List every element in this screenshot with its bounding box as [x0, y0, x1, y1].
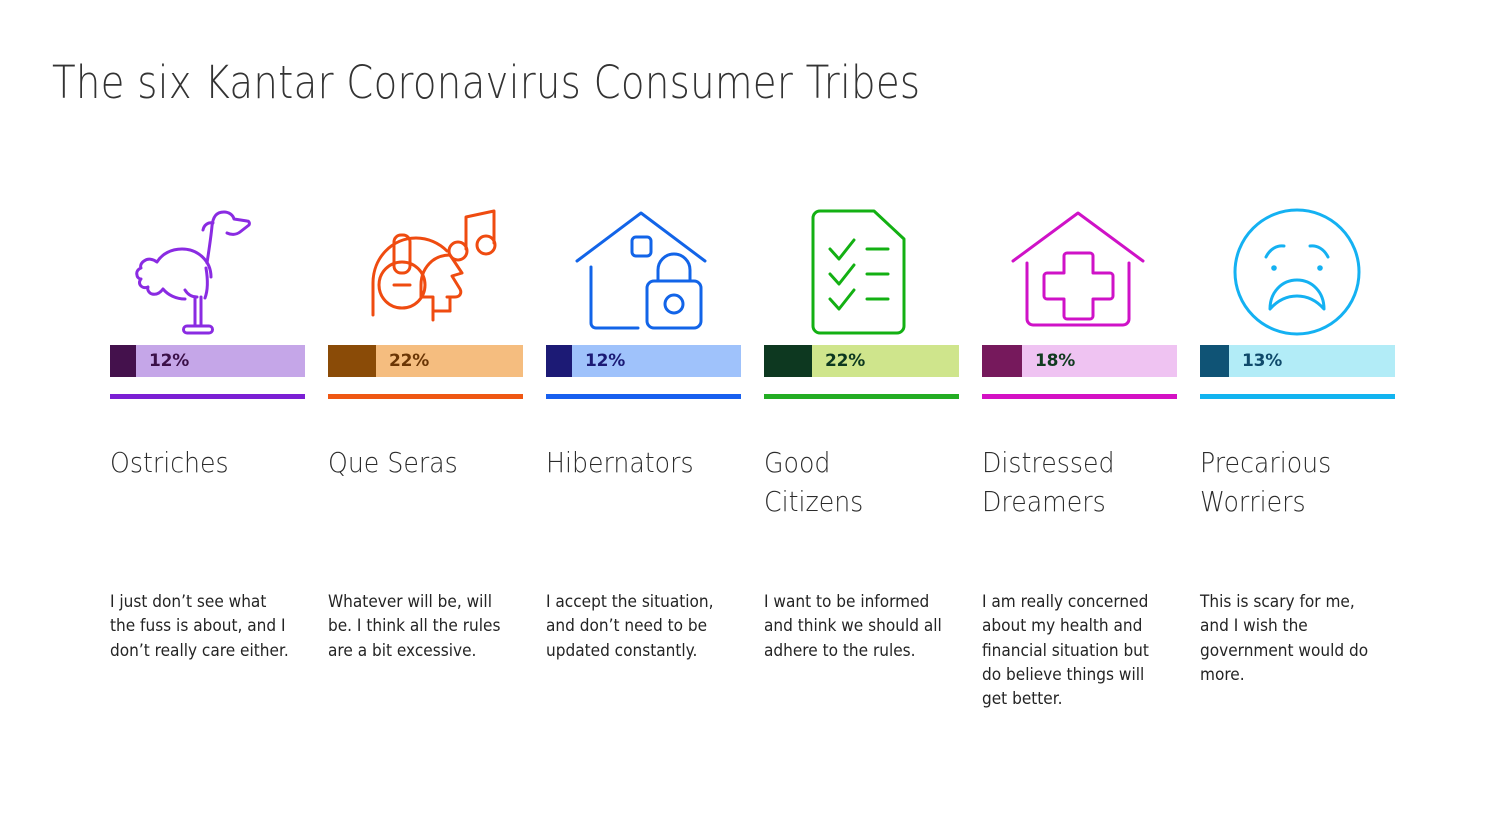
tribe-description: I accept the situation, and don’t need t… — [546, 590, 732, 663]
tribe-percent-label: 12% — [136, 351, 189, 371]
bar-body: 12% — [136, 345, 305, 377]
bar-body: 12% — [572, 345, 741, 377]
bar-body: 13% — [1229, 345, 1395, 377]
bar-body: 18% — [1022, 345, 1177, 377]
tribe-name: Distressed Dreamers — [982, 444, 1158, 521]
tribe-column: 22%Good CitizensI want to be informed an… — [764, 200, 959, 521]
tribe-percent-label: 22% — [376, 351, 429, 371]
bar-body: 22% — [376, 345, 523, 377]
bar-cap — [546, 345, 572, 377]
tribe-description: This is scary for me, and I wish the gov… — [1200, 590, 1386, 687]
tribe-accent-underline — [110, 394, 305, 399]
tribe-share-bar: 13% — [1200, 345, 1395, 377]
tribe-accent-underline — [546, 394, 741, 399]
tribe-accent-underline — [982, 394, 1177, 399]
tribe-name: Hibernators — [546, 444, 722, 483]
tribe-description: Whatever will be, will be. I think all t… — [328, 590, 514, 663]
tribe-share-bar: 18% — [982, 345, 1177, 377]
headphones-head-music-icon — [328, 200, 523, 345]
tribes-row: 12%OstrichesI just don’t see what the fu… — [110, 200, 1410, 521]
bar-cap — [764, 345, 812, 377]
tribe-percent-label: 18% — [1022, 351, 1075, 371]
tribe-accent-underline — [764, 394, 959, 399]
tribe-share-bar: 12% — [546, 345, 741, 377]
house-lock-icon — [546, 200, 741, 345]
tribe-name: Precarious Worriers — [1200, 444, 1376, 521]
tribe-percent-label: 12% — [572, 351, 625, 371]
tribe-column: 13%Precarious WorriersThis is scary for … — [1200, 200, 1395, 521]
bar-cap — [982, 345, 1022, 377]
tribe-description: I want to be informed and think we shoul… — [764, 590, 950, 663]
tribe-column: 18%Distressed DreamersI am really concer… — [982, 200, 1177, 521]
ostrich-icon — [110, 200, 305, 345]
tribe-column: 12%OstrichesI just don’t see what the fu… — [110, 200, 305, 521]
page-title: The six Kantar Coronavirus Consumer Trib… — [52, 56, 920, 109]
tribe-name: Ostriches — [110, 444, 286, 483]
bar-cap — [110, 345, 136, 377]
tribe-name: Que Seras — [328, 444, 504, 483]
tribe-column: 22%Que SerasWhatever will be, will be. I… — [328, 200, 523, 521]
tribe-column: 12%HibernatorsI accept the situation, an… — [546, 200, 741, 521]
tribe-description: I just don’t see what the fuss is about,… — [110, 590, 296, 663]
tribe-share-bar: 12% — [110, 345, 305, 377]
tribe-accent-underline — [328, 394, 523, 399]
checklist-document-icon — [764, 200, 959, 345]
tribe-name: Good Citizens — [764, 444, 940, 521]
tribe-percent-label: 13% — [1229, 351, 1282, 371]
house-medical-cross-icon — [982, 200, 1177, 345]
tribe-share-bar: 22% — [328, 345, 523, 377]
tribe-percent-label: 22% — [812, 351, 865, 371]
bar-cap — [328, 345, 376, 377]
tribe-accent-underline — [1200, 394, 1395, 399]
tribe-description: I am really concerned about my health an… — [982, 590, 1168, 711]
tribe-share-bar: 22% — [764, 345, 959, 377]
sad-face-icon — [1200, 200, 1395, 345]
bar-body: 22% — [812, 345, 959, 377]
bar-cap — [1200, 345, 1229, 377]
